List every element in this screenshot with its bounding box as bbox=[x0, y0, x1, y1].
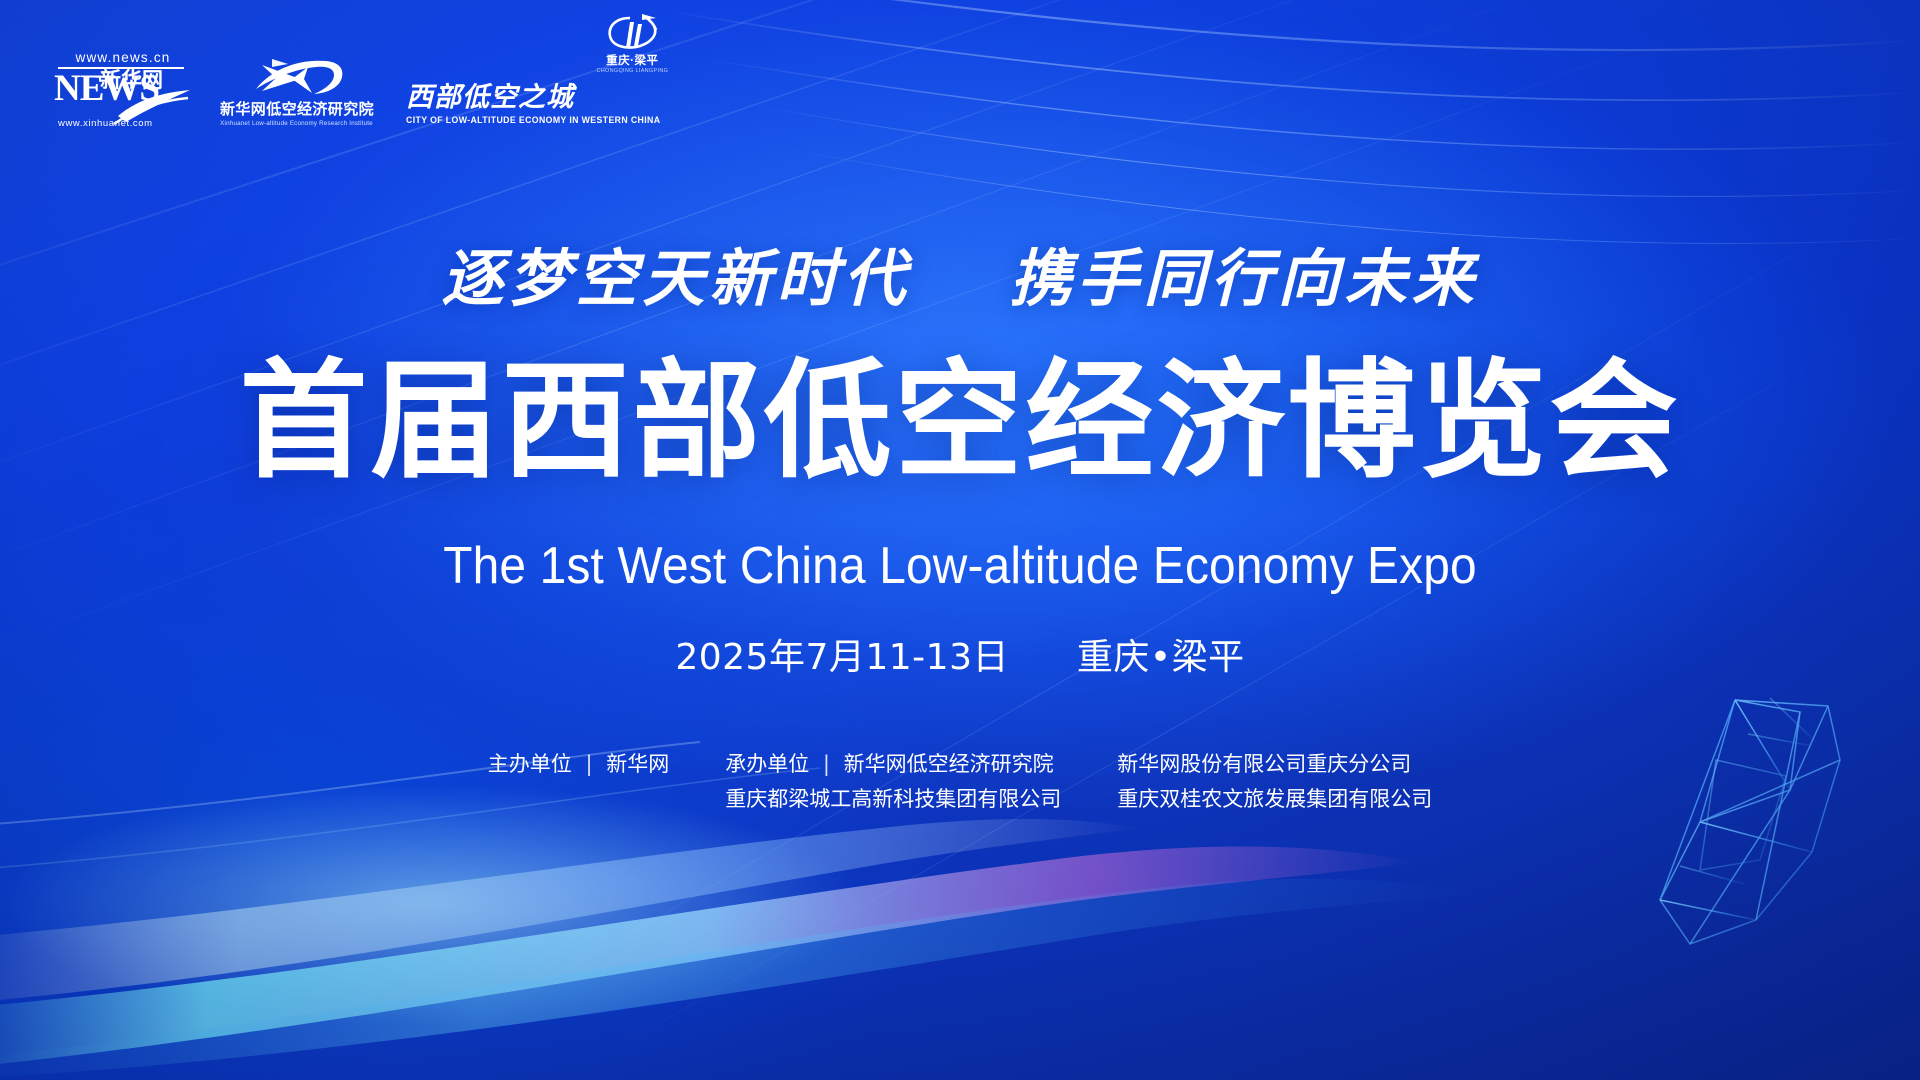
xinhuanet-url-top: www.news.cn bbox=[58, 51, 188, 65]
tagline-right: 携手同行向未来 bbox=[1010, 242, 1479, 315]
organizer-divider: | bbox=[816, 748, 837, 781]
institute-name-en: Xinhuanet Low-altitude Economy Research … bbox=[221, 120, 374, 128]
event-date: 2025年7月11-13日 bbox=[675, 637, 1009, 678]
organizer-value-3: 重庆都梁城工高新科技集团有限公司 bbox=[725, 787, 1061, 811]
organizer-row-4: 重庆双桂农文旅发展集团有限公司 bbox=[1117, 783, 1432, 816]
organizer-value-2: 新华网股份有限公司重庆分公司 bbox=[1117, 752, 1411, 776]
organizer-row-3: 重庆都梁城工高新科技集团有限公司 bbox=[725, 783, 1061, 816]
logo-bar: www.news.cn NEWS 新华网 www.xinhuanet.com bbox=[48, 46, 668, 128]
tagline: 逐梦空天新时代 携手同行向未来 bbox=[0, 248, 1920, 310]
xinhuanet-wordmark: NEWS 新华网 bbox=[54, 72, 188, 118]
city-badge-cn: 重庆·梁平 bbox=[606, 55, 658, 68]
organizers-block: 主办单位 | 新华网 承办单位 | 新华网低空经济研究院 新华网股份有限公司重庆… bbox=[0, 748, 1920, 815]
host-row: 主办单位 | 新华网 bbox=[488, 748, 669, 781]
city-name-cn: 西部低空之城 bbox=[406, 84, 668, 111]
city-emblem-icon bbox=[600, 10, 664, 54]
tagline-left: 逐梦空天新时代 bbox=[441, 242, 910, 315]
xinhuanet-logo: www.news.cn NEWS 新华网 www.xinhuanet.com bbox=[48, 46, 188, 128]
page-title: 首届西部低空经济博览会 bbox=[0, 358, 1920, 486]
organizers-grid: 主办单位 | 新华网 承办单位 | 新华网低空经济研究院 新华网股份有限公司重庆… bbox=[488, 748, 1432, 815]
organizer-label: 承办单位 bbox=[725, 752, 809, 776]
organizer-row-2: 新华网股份有限公司重庆分公司 bbox=[1117, 748, 1432, 781]
research-institute-logo: 新华网低空经济研究院 Xinhuanet Low-altitude Econom… bbox=[222, 46, 372, 128]
host-label: 主办单位 bbox=[488, 752, 572, 776]
organizer-value-1: 新华网低空经济研究院 bbox=[844, 752, 1054, 776]
city-wordmark: 西部低空之城 CITY OF LOW-ALTITUDE ECONOMY IN W… bbox=[406, 84, 668, 128]
host-divider: | bbox=[578, 748, 599, 781]
event-banner: www.news.cn NEWS 新华网 www.xinhuanet.com bbox=[0, 0, 1920, 1080]
host-value: 新华网 bbox=[606, 752, 669, 776]
organizer-row-1: 承办单位 | 新华网低空经济研究院 bbox=[725, 748, 1061, 781]
event-meta: 2025年7月11-13日 重庆•梁平 bbox=[0, 640, 1920, 676]
city-low-altitude-logo: 重庆·梁平 CHONGQING LIANGPING 西部低空之城 CITY OF… bbox=[406, 46, 668, 128]
institute-emblem-icon bbox=[242, 55, 352, 99]
event-location: 重庆•梁平 bbox=[1077, 637, 1245, 678]
organizer-value-4: 重庆双桂农文旅发展集团有限公司 bbox=[1117, 787, 1432, 811]
subtitle-english: The 1st West China Low-altitude Economy … bbox=[77, 540, 1843, 592]
institute-name-cn: 新华网低空经济研究院 bbox=[220, 102, 374, 119]
city-name-en: CITY OF LOW-ALTITUDE ECONOMY IN WESTERN … bbox=[406, 115, 660, 126]
city-emblem-block: 重庆·梁平 CHONGQING LIANGPING bbox=[596, 10, 668, 74]
city-badge-en: CHONGQING LIANGPING bbox=[596, 68, 668, 75]
